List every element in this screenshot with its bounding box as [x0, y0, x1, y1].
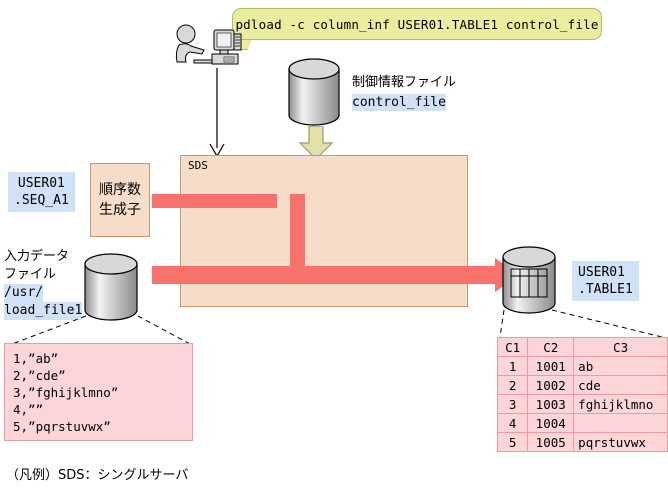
sds-box	[180, 155, 468, 307]
cell-c1: 1	[498, 357, 528, 376]
cell-c1: 5	[498, 433, 528, 452]
sequence-name-line2: .SEQ_A1	[14, 192, 69, 209]
legend-text: （凡例）SDS：シングルサーバ	[6, 464, 188, 483]
table-header-row: C1 C2 C3	[498, 338, 668, 357]
control-file-label: 制御情報ファイル control_file	[352, 74, 456, 111]
input-file-path-line2: load_file1	[4, 302, 82, 320]
result-table: C1 C2 C3 1 1001 ab 2 1002 cde 3 1003 fgh…	[497, 337, 668, 452]
input-file-contents-box: 1,”ab” 2,”cde” 3,”fghijklmno” 4,”” 5,”pq…	[4, 343, 193, 441]
sequence-generator-line2: 生成子	[99, 200, 141, 220]
cell-c1: 3	[498, 395, 528, 414]
input-file-content-line: 2,”cde”	[13, 367, 184, 384]
input-file-label: 入力データ ファイル /usr/ load_file1	[4, 248, 82, 320]
cell-c2: 1005	[528, 433, 574, 452]
sequence-name-line1: USER01	[14, 175, 69, 192]
target-table-name-line2: .TABLE1	[578, 281, 633, 298]
column-header-c2: C2	[528, 338, 574, 357]
column-header-c3: C3	[574, 338, 668, 357]
input-file-jp-line1: 入力データ	[4, 248, 82, 266]
cell-c3: fghijklmno	[574, 395, 668, 414]
input-file-content-line: 5,”pqrstuvwx”	[13, 418, 184, 435]
target-table-name-line1: USER01	[578, 264, 633, 281]
table-row: 1 1001 ab	[498, 357, 668, 376]
diagram-canvas: pdload -c column_inf USER01.TABLE1 contr…	[0, 0, 668, 491]
command-text: pdload -c column_inf USER01.TABLE1 contr…	[235, 17, 598, 32]
input-file-content-line: 1,”ab”	[13, 350, 184, 367]
cell-c2: 1001	[528, 357, 574, 376]
sds-label: SDS	[188, 159, 208, 172]
input-file-content-line: 4,””	[13, 401, 184, 418]
input-file-content-line: 3,”fghijklmno”	[13, 384, 184, 401]
column-header-c1: C1	[498, 338, 528, 357]
input-file-cylinder-icon	[82, 252, 140, 322]
control-file-cylinder-icon	[286, 58, 342, 126]
sequence-generator-box: 順序数 生成子	[90, 163, 150, 237]
data-load-flow-bar	[152, 266, 503, 284]
input-file-path-line1: /usr/	[4, 284, 43, 302]
cell-c1: 4	[498, 414, 528, 433]
cell-c2: 1004	[528, 414, 574, 433]
sequence-flow-segment	[152, 194, 277, 208]
cell-c3	[574, 414, 668, 433]
command-flow-arrow	[205, 68, 229, 158]
control-file-jp-label: 制御情報ファイル	[352, 74, 456, 91]
target-table-name-label: USER01 .TABLE1	[572, 261, 639, 301]
cell-c3: pqrstuvwx	[574, 433, 668, 452]
table-row: 5 1005 pqrstuvwx	[498, 433, 668, 452]
table-row: 4 1004	[498, 414, 668, 433]
cell-c3: cde	[574, 376, 668, 395]
target-table-cylinder-icon	[500, 245, 558, 315]
sequence-name-label: USER01 .SEQ_A1	[8, 172, 75, 212]
person-at-computer-icon	[172, 20, 248, 70]
sequence-generator-line1: 順序数	[99, 180, 141, 200]
cell-c3: ab	[574, 357, 668, 376]
command-callout: pdload -c column_inf USER01.TABLE1 contr…	[232, 8, 602, 40]
table-row: 2 1002 cde	[498, 376, 668, 395]
cell-c1: 2	[498, 376, 528, 395]
input-file-jp-line2: ファイル	[4, 266, 82, 284]
cell-c2: 1002	[528, 376, 574, 395]
cell-c2: 1003	[528, 395, 574, 414]
control-file-code-label: control_file	[352, 94, 446, 111]
table-row: 3 1003 fghijklmno	[498, 395, 668, 414]
